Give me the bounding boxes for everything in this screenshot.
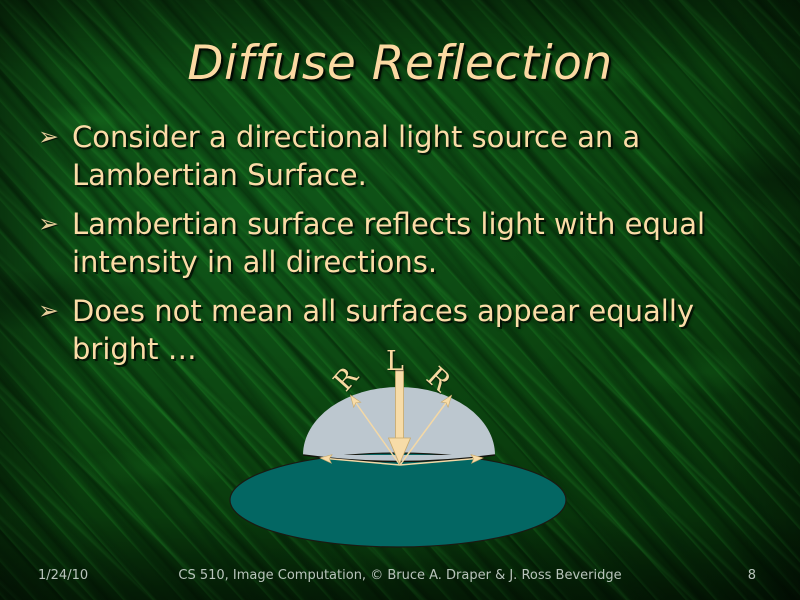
arrow-bullet-icon: ➢ <box>30 118 72 156</box>
bullet-item-1: ➢ Consider a directional light source an… <box>30 118 775 194</box>
bullet-text-2: Lambertian surface reflects light with e… <box>72 205 775 281</box>
arrow-bullet-icon: ➢ <box>30 292 72 330</box>
arrow-bullet-icon: ➢ <box>30 205 72 243</box>
slide-canvas: Diffuse Reflection ➢ Consider a directio… <box>0 0 800 600</box>
diffuse-reflection-diagram: L R R <box>210 348 590 558</box>
light-vector-label: L <box>386 348 404 375</box>
footer-attribution: CS 510, Image Computation, © Bruce A. Dr… <box>0 566 800 586</box>
slide-number: 8 <box>748 566 756 586</box>
bullet-text-1: Consider a directional light source an a… <box>72 118 775 194</box>
slide-title: Diffuse Reflection <box>0 36 800 91</box>
bullet-item-2: ➢ Lambertian surface reflects light with… <box>30 205 775 281</box>
surface-ellipse <box>230 453 566 547</box>
bullet-list: ➢ Consider a directional light source an… <box>30 118 775 379</box>
diagram-graphic <box>210 348 590 558</box>
slide-footer: 1/24/10 CS 510, Image Computation, © Bru… <box>0 566 800 586</box>
